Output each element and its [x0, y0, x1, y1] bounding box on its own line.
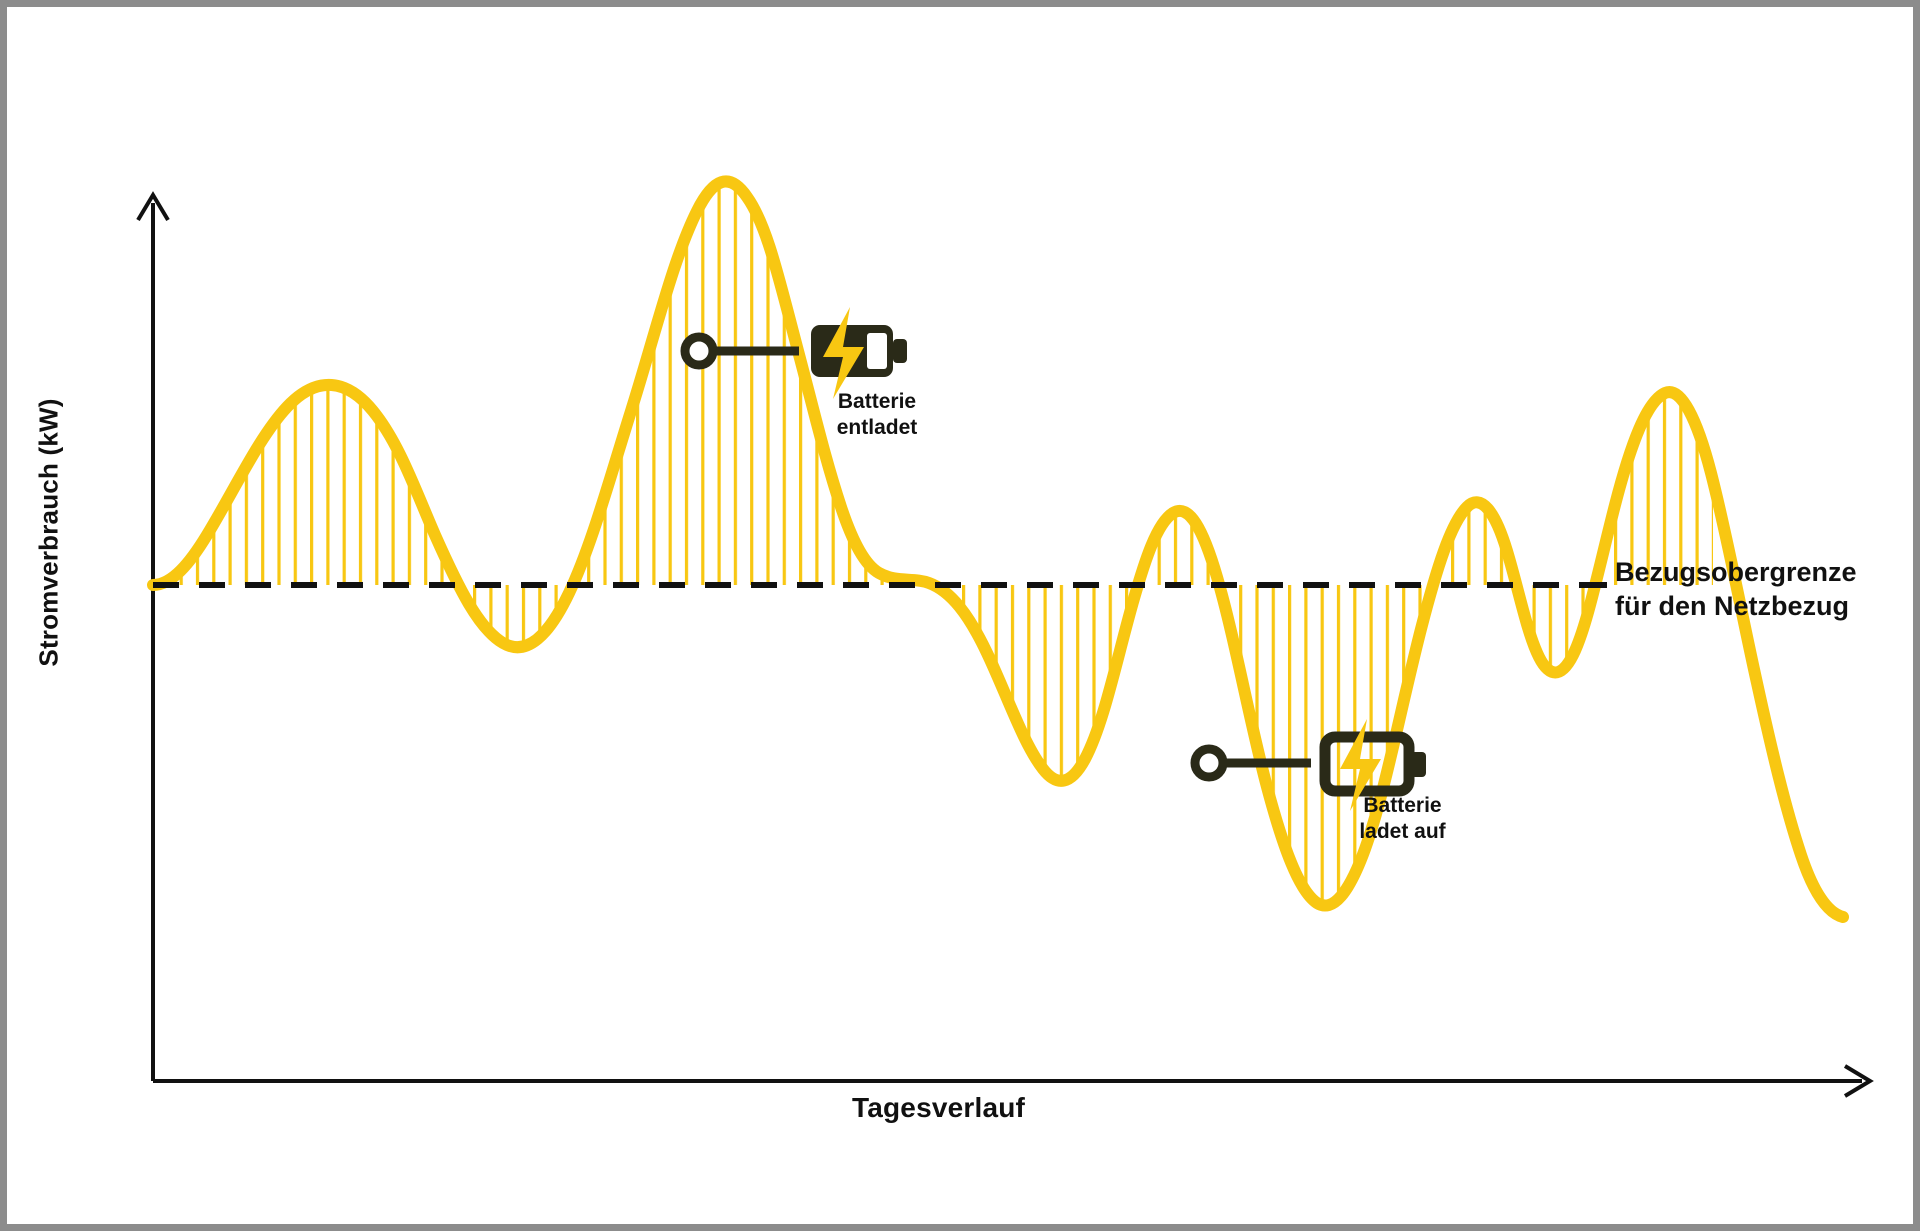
x-axis-label: Tagesverlauf	[852, 1092, 1025, 1124]
figure-frame: Stromverbrauch (kW) Tagesverlauf Batteri…	[0, 0, 1920, 1231]
y-axis-label: Stromverbrauch (kW)	[34, 373, 65, 693]
callout-discharge-label: Batterie entladet	[797, 389, 957, 440]
threshold-label: Bezugsobergrenze für den Netzbezug	[1615, 555, 1857, 623]
circle-marker-icon	[1195, 749, 1223, 777]
chart-canvas: Stromverbrauch (kW) Tagesverlauf Batteri…	[7, 7, 1913, 1224]
callout-charge-label: Batterie ladet auf	[1315, 793, 1490, 844]
circle-marker-icon	[685, 337, 713, 365]
battery-full-bolt-icon	[811, 307, 907, 399]
y-axis	[138, 195, 168, 1081]
hatch-above-threshold	[153, 181, 1843, 917]
